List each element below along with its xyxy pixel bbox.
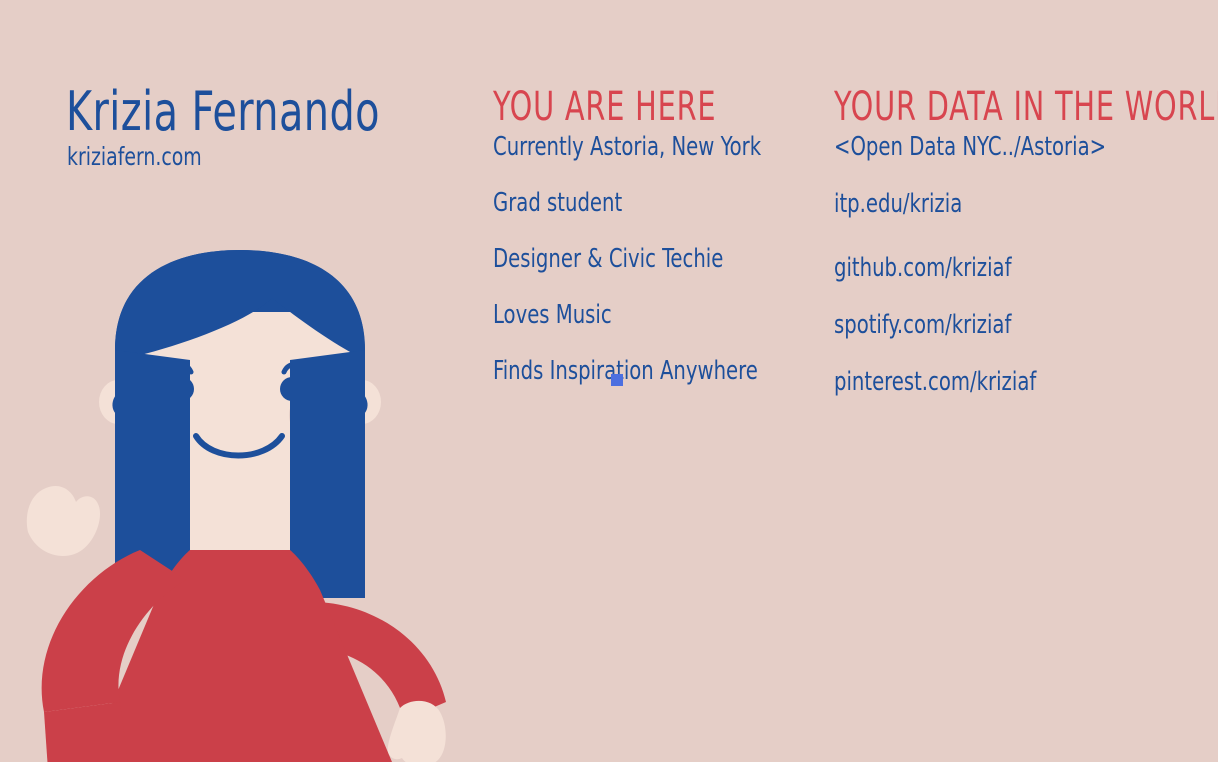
ear-right-detail [356,392,366,416]
list-item-spotify-link[interactable]: spotify.com/kriziaf [834,310,1106,340]
face [128,312,352,550]
list-item: Finds Inspiration Anywhere [493,356,761,386]
arm-left-forearm [44,702,128,762]
hair-strand-left [115,350,190,598]
page-title: Krizia Fernando [66,82,380,142]
page-root: Krizia Fernando kriziafern.com YOU ARE H… [0,0,1218,762]
neck [190,505,290,620]
arm-left [42,550,186,712]
you-are-here-list: Currently Astoria, New York Grad student… [493,132,812,412]
section-heading-you-are-here: YOU ARE HERE [493,85,716,129]
your-data-links-list: <Open Data NYC../Astoria> itp.edu/krizia… [834,132,1158,424]
arm-right [300,602,446,720]
hand-right [388,701,446,762]
list-item: Designer & Civic Techie [493,244,761,274]
list-item: Grad student [493,188,761,218]
eyebrow-right [284,364,307,380]
list-item-github-link[interactable]: github.com/kriziaf [834,253,1106,283]
eyebrow-left [168,364,191,380]
personal-website-link[interactable]: kriziafern.com [67,142,202,172]
list-item: Loves Music [493,300,761,330]
person-illustration [0,250,480,762]
ear-left-detail [114,392,124,416]
list-item-itp-link[interactable]: itp.edu/krizia [834,189,1106,219]
ear-left [99,380,137,424]
cheek-right [289,391,337,439]
cheek-left [138,391,186,439]
shirt-body [88,550,392,762]
hair-back [115,250,365,598]
ear-right [343,380,381,424]
hair-fringe [115,250,365,360]
list-item-pinterest-link[interactable]: pinterest.com/kriziaf [834,367,1106,397]
hand-left [27,486,100,556]
hair-strand-right [290,350,365,598]
mouth-smile [196,436,282,456]
list-item-open-data-link[interactable]: <Open Data NYC../Astoria> [834,132,1106,162]
eye-right [280,377,304,401]
list-item: Currently Astoria, New York [493,132,761,162]
cursor-marker [611,374,623,386]
section-heading-your-data-in-the-world: YOUR DATA IN THE WORLD [834,85,1218,129]
eye-left [170,377,194,401]
